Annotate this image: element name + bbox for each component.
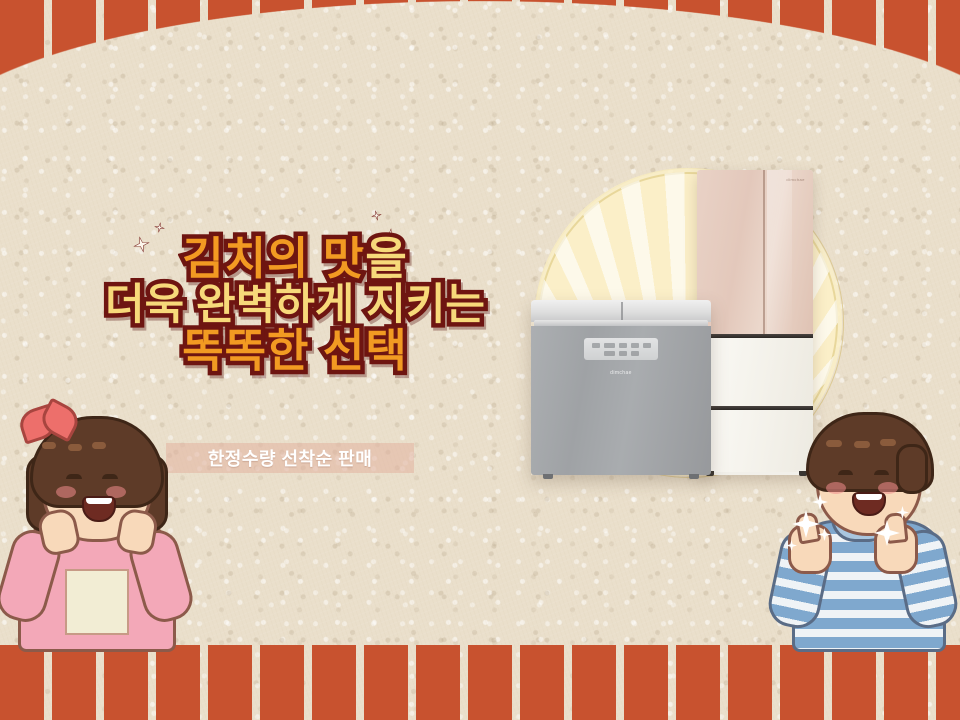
control-key xyxy=(592,343,600,348)
headline-line-2: 더욱 완벽하게 지키는 xyxy=(60,283,530,328)
chest-kimchi-refrigerator: dimchae xyxy=(531,300,711,475)
boy-eye-right xyxy=(874,470,889,475)
control-key xyxy=(619,351,627,356)
headline-line-1: 김치의 맛을 xyxy=(60,236,530,283)
control-key xyxy=(643,343,651,348)
fridge-door-gloss xyxy=(767,170,793,338)
boy-hair-highlight xyxy=(826,440,842,447)
top-stripe-arch xyxy=(0,0,960,150)
headline-line-3: 똑똑한 선택 xyxy=(60,328,530,375)
girl-cheek-left xyxy=(56,486,76,498)
promo-banner: dimchae dimchae xyxy=(0,0,960,720)
headline-line-1-main: 김치의 맛 xyxy=(182,233,365,284)
control-key xyxy=(619,343,627,348)
control-key xyxy=(631,351,639,356)
girl-eye-right xyxy=(102,474,118,479)
chest-body: dimchae xyxy=(531,326,711,475)
girl-hair-highlight xyxy=(42,442,56,449)
headline-line-1-particle: 을 xyxy=(365,233,407,284)
girl-eye-left xyxy=(66,474,82,479)
chest-foot-right xyxy=(689,474,699,479)
chest-lid xyxy=(531,300,711,322)
chest-control-panel xyxy=(584,338,658,360)
girl-sweater-panel xyxy=(65,569,129,635)
fridge-brand-logo: dimchae xyxy=(786,177,805,182)
subtitle-text: 한정수량 선착순 판매 xyxy=(208,445,373,471)
fridge-upper-doors: dimchae xyxy=(697,170,813,338)
boy-cheek-left xyxy=(826,482,846,494)
chest-brand-logo: dimchae xyxy=(610,370,632,376)
boy-hair-side xyxy=(896,444,928,494)
subtitle-band: 한정수량 선착순 판매 xyxy=(166,443,414,473)
boy-eye-left xyxy=(838,470,853,475)
control-key xyxy=(604,351,615,356)
control-key xyxy=(604,343,615,348)
bottom-stripe-band xyxy=(0,645,960,720)
headline-block: 김치의 맛을 더욱 완벽하게 지키는 똑똑한 선택 xyxy=(60,236,530,374)
control-key xyxy=(631,343,639,348)
chest-foot-left xyxy=(543,474,553,479)
girl-character xyxy=(0,402,192,652)
boy-character xyxy=(762,396,960,652)
